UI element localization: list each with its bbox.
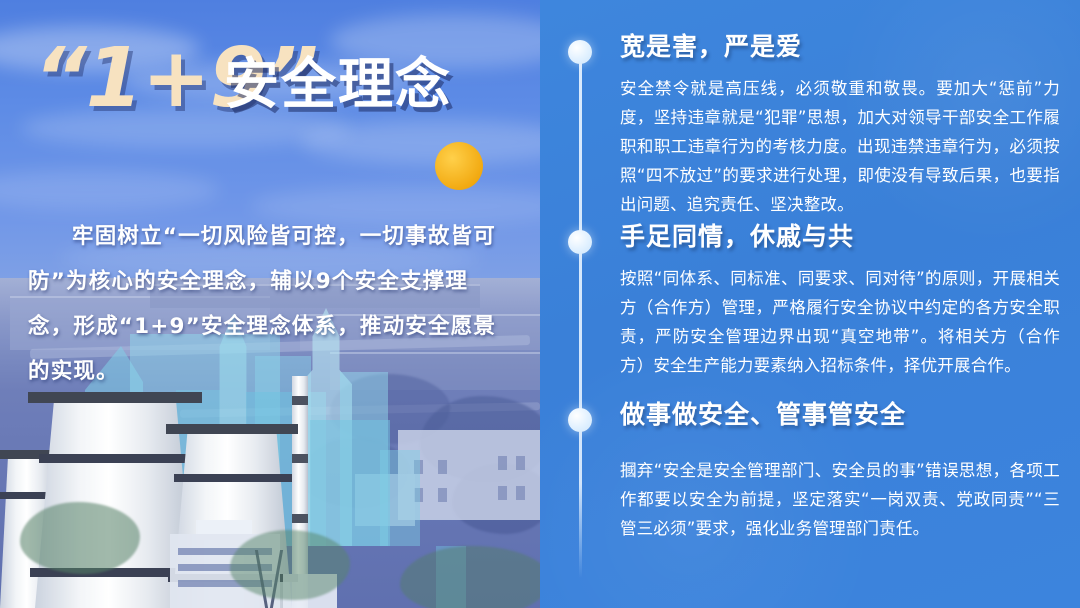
- slide-root: “1+9” 安全理念 牢固树立“一切风险皆可控，一切事故皆可防”为核心的安全理念…: [0, 0, 1080, 608]
- left-text-content: “1+9” 安全理念 牢固树立“一切风险皆可控，一切事故皆可防”为核心的安全理念…: [0, 0, 540, 608]
- section-item: 做事做安全、管事管安全 摑弃“安全是安全管理部门、安全员的事”错误思想，各项工作…: [568, 396, 1068, 543]
- title-text: 安全理念: [224, 56, 452, 111]
- section-heading: 做事做安全、管事管安全: [620, 396, 1068, 430]
- right-panel: 宽是害，严是爱 安全禁令就是高压线，必须敬重和敬畏。要加大“惩前”力度，坚持违章…: [540, 0, 1080, 608]
- section-body: 摑弃“安全是安全管理部门、安全员的事”错误思想，各项工作都要以安全为前提，坚定落…: [620, 456, 1060, 543]
- section-list: 宽是害，严是爱 安全禁令就是高压线，必须敬重和敬畏。要加大“惩前”力度，坚持违章…: [540, 0, 1080, 608]
- page-title: “1+9” 安全理念: [0, 38, 540, 148]
- timeline-dot-icon: [568, 230, 592, 254]
- timeline-dot-icon: [568, 408, 592, 432]
- left-paragraph: 牢固树立“一切风险皆可控，一切事故皆可防”为核心的安全理念，辅以9个安全支撑理念…: [28, 214, 508, 394]
- section-item: 手足同情，休戚与共 按照“同体系、同标准、同要求、同对待”的原则，开展相关方（合…: [568, 218, 1068, 380]
- section-heading: 宽是害，严是爱: [620, 28, 1068, 62]
- timeline-dot-icon: [568, 40, 592, 64]
- section-heading: 手足同情，休戚与共: [620, 218, 1068, 252]
- gold-circle-accent: [435, 142, 483, 190]
- section-body: 安全禁令就是高压线，必须敬重和敬畏。要加大“惩前”力度，坚持违章就是“犯罪”思想…: [620, 74, 1060, 219]
- left-panel: “1+9” 安全理念 牢固树立“一切风险皆可控，一切事故皆可防”为核心的安全理念…: [0, 0, 540, 608]
- section-body: 按照“同体系、同标准、同要求、同对待”的原则，开展相关方（合作方）管理，严格履行…: [620, 264, 1060, 380]
- section-item: 宽是害，严是爱 安全禁令就是高压线，必须敬重和敬畏。要加大“惩前”力度，坚持违章…: [568, 28, 1068, 219]
